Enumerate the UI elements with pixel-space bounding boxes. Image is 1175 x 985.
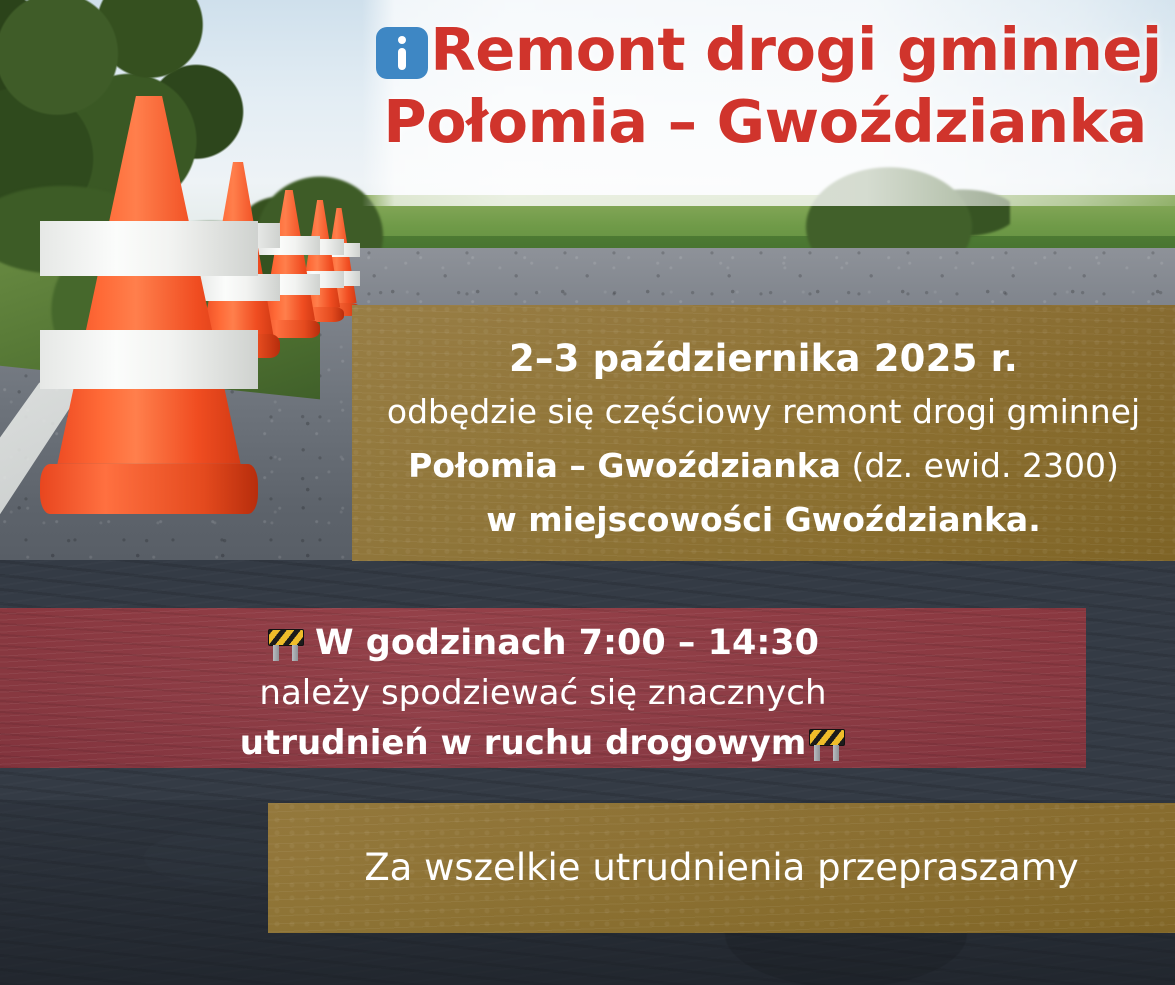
apology-panel: Za wszelkie utrudnienia przepraszamy <box>268 803 1175 933</box>
construction-barrier-icon-right <box>808 729 846 761</box>
schedule-locality: w miejscowości Gwoździanka. <box>486 500 1041 539</box>
warning-hours: W godzinach 7:00 – 14:30 <box>315 623 819 663</box>
warning-panel: W godzinach 7:00 – 14:30 należy spodziew… <box>0 608 1086 768</box>
page-title: Remont drogi gminnej Połomia – Gwoździan… <box>355 14 1175 158</box>
schedule-line-3: Połomia – Gwoździanka (dz. ewid. 2300) <box>352 439 1175 493</box>
schedule-line-2: odbędzie się częściowy remont drogi gmin… <box>352 385 1175 439</box>
traffic-cone-2 <box>40 96 258 514</box>
schedule-date: 2–3 października 2025 r. <box>352 305 1175 385</box>
warning-hours-row: W godzinach 7:00 – 14:30 <box>0 608 1086 668</box>
schedule-panel: 2–3 października 2025 r. odbędzie się cz… <box>352 305 1175 561</box>
schedule-line-4: w miejscowości Gwoździanka. <box>352 493 1175 547</box>
warning-line-2: należy spodziewać się znacznych <box>0 668 1086 718</box>
schedule-parcel: (dz. ewid. 2300) <box>841 446 1119 485</box>
info-icon <box>376 27 428 79</box>
schedule-road-name: Połomia – Gwoździanka <box>408 446 841 485</box>
warning-line-3: utrudnień w ruchu drogowym <box>240 723 807 763</box>
construction-barrier-icon-left <box>267 629 305 661</box>
warning-line-3-row: utrudnień w ruchu drogowym <box>0 718 1086 768</box>
road-repair-announcement-poster: Remont drogi gminnej Połomia – Gwoździan… <box>0 0 1175 985</box>
apology-text: Za wszelkie utrudnienia przepraszamy <box>268 803 1175 933</box>
title-line-2: Połomia – Gwoździanka <box>355 86 1175 158</box>
title-line-1: Remont drogi gminnej <box>430 15 1161 84</box>
